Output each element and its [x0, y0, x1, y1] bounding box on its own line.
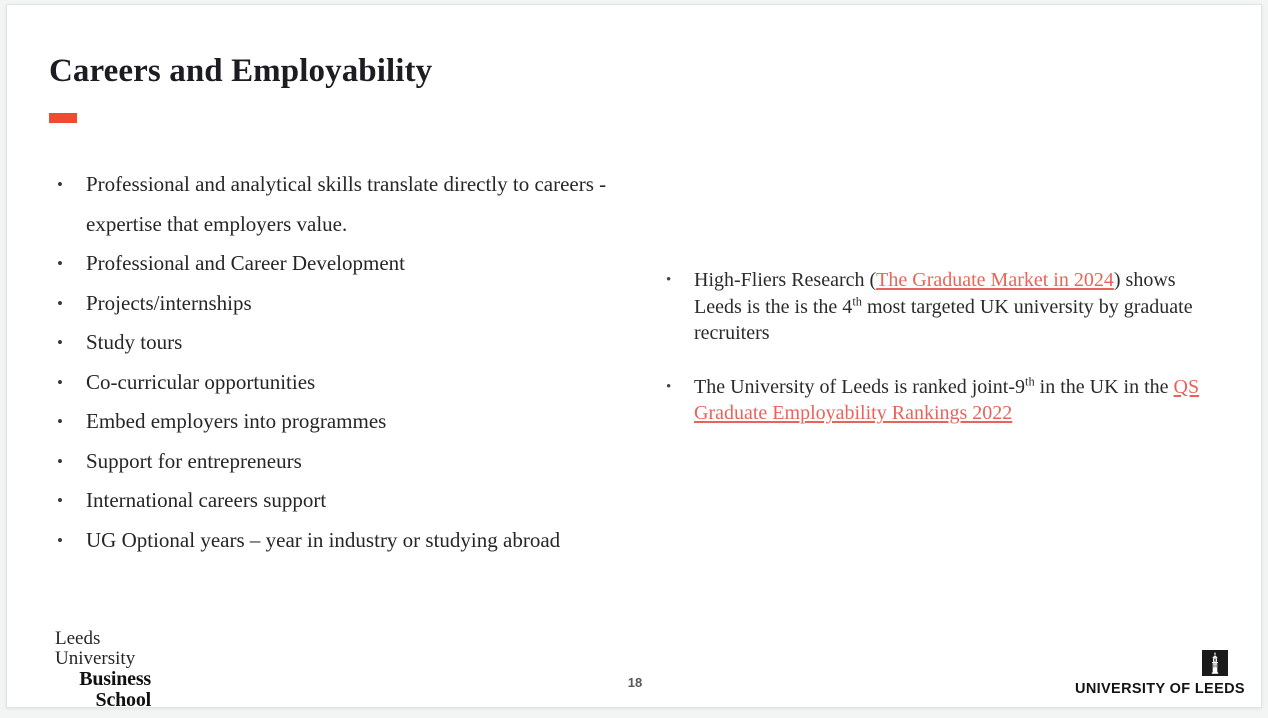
- list-item: • Professional and analytical skills tra…: [49, 165, 619, 244]
- page-title: Careers and Employability: [49, 51, 432, 91]
- bullet-icon: •: [57, 442, 63, 482]
- list-item: •High-Fliers Research (The Graduate Mark…: [659, 267, 1225, 347]
- bullet-icon: •: [666, 374, 671, 401]
- bullet-icon: •: [57, 323, 63, 363]
- list-item: • Professional and Career Development: [49, 244, 619, 284]
- list-item-label: Projects/internships: [86, 291, 252, 315]
- bullet-icon: •: [57, 521, 63, 561]
- university-of-leeds-logo: UNIVERSITY OF LEEDS: [1075, 650, 1229, 697]
- list-item-prefix: High-Fliers Research (: [694, 269, 876, 291]
- title-accent-rule: [49, 113, 77, 123]
- right-bullet-list: •High-Fliers Research (The Graduate Mark…: [659, 267, 1225, 427]
- bullet-icon: •: [57, 165, 63, 205]
- list-item: • Co-curricular opportunities: [49, 363, 619, 403]
- list-item-label: Embed employers into programmes: [86, 409, 386, 433]
- list-item: • Study tours: [49, 323, 619, 363]
- bullet-icon: •: [57, 363, 63, 403]
- list-item-label: UG Optional years – year in industry or …: [86, 528, 560, 552]
- left-bullet-list: • Professional and analytical skills tra…: [49, 165, 619, 560]
- bullet-icon: •: [57, 284, 63, 324]
- lubs-logo-line-school: School: [55, 690, 151, 708]
- ordinal-suffix: th: [1025, 374, 1035, 388]
- list-item-label: Professional and analytical skills trans…: [86, 172, 606, 236]
- bullet-icon: •: [57, 244, 63, 284]
- uol-wordmark: UNIVERSITY OF LEEDS: [1075, 681, 1229, 697]
- list-item-label: Professional and Career Development: [86, 251, 405, 275]
- bullet-icon: •: [57, 402, 63, 442]
- lubs-logo-line-leeds: Leeds: [55, 629, 151, 649]
- list-item: • International careers support: [49, 481, 619, 521]
- list-item-label: Support for entrepreneurs: [86, 449, 302, 473]
- list-item-middle: in the UK in the: [1035, 376, 1174, 398]
- parkinson-tower-icon: [1202, 650, 1228, 676]
- list-item-prefix: The University of Leeds is ranked joint-…: [694, 376, 1025, 398]
- graduate-market-link[interactable]: The Graduate Market in 2024: [876, 269, 1114, 291]
- lubs-logo-line-university: University: [55, 649, 151, 669]
- bullet-icon: •: [666, 267, 671, 294]
- list-item: • UG Optional years – year in industry o…: [49, 521, 619, 561]
- leeds-university-business-school-logo: Leeds University Business School: [55, 629, 151, 708]
- list-item: • Embed employers into programmes: [49, 402, 619, 442]
- ordinal-suffix: th: [852, 294, 862, 308]
- list-item-label: Study tours: [86, 330, 182, 354]
- bullet-icon: •: [57, 481, 63, 521]
- list-item-label: International careers support: [86, 488, 326, 512]
- list-item-label: Co-curricular opportunities: [86, 370, 315, 394]
- list-item: • Support for entrepreneurs: [49, 442, 619, 482]
- list-item: • Projects/internships: [49, 284, 619, 324]
- page-number: 18: [7, 675, 1262, 690]
- slide-canvas: Careers and Employability • Professional…: [6, 4, 1262, 708]
- list-item: •The University of Leeds is ranked joint…: [659, 374, 1225, 427]
